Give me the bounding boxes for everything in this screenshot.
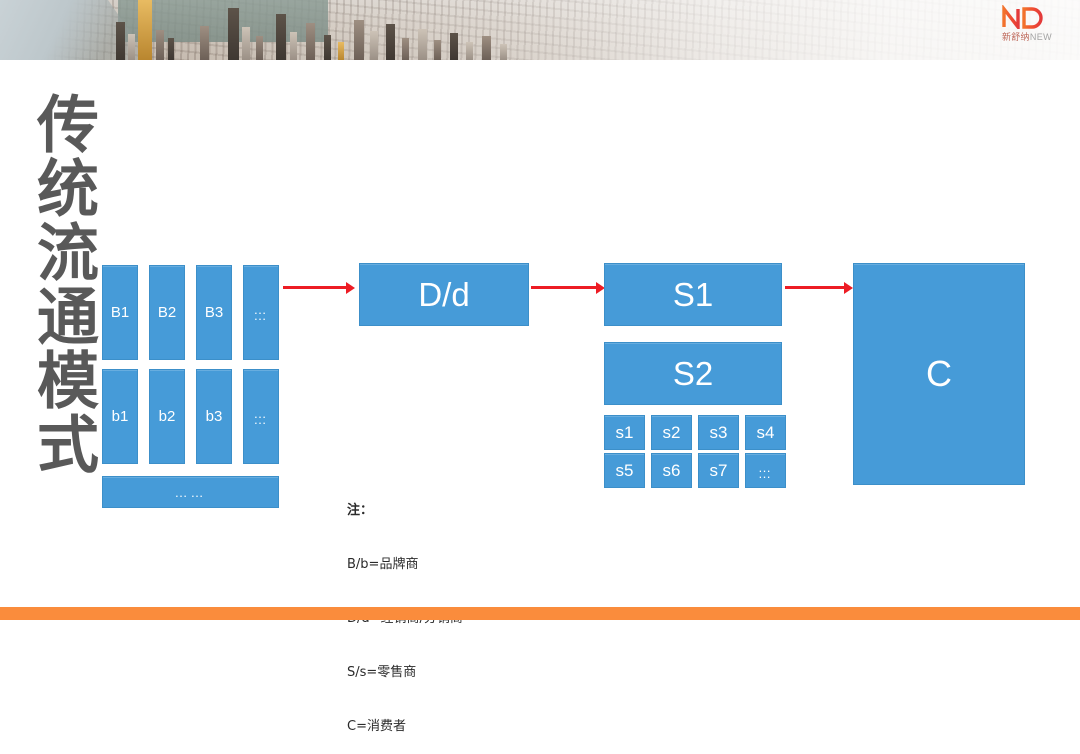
arrow-shaft (283, 286, 346, 289)
node-s1-small[interactable]: s1 (604, 415, 645, 450)
node-s7-small[interactable]: s7 (698, 453, 739, 488)
arrow-shaft (785, 286, 844, 289)
node-s2[interactable]: S2 (604, 342, 782, 405)
arrow-head (346, 282, 355, 294)
ellipsis-lower: … (254, 313, 269, 319)
node-b3-lower[interactable]: b3 (196, 369, 232, 464)
nd-monogram-icon (988, 5, 1064, 29)
node-b1-lower[interactable]: b1 (102, 369, 138, 464)
node-b2-lower[interactable]: b2 (149, 369, 185, 464)
arrow-head (844, 282, 853, 294)
node-s6-small[interactable]: s6 (651, 453, 692, 488)
arrow-shaft (531, 286, 596, 289)
node-dd[interactable]: D/d (359, 263, 529, 326)
arrow-brands-to-distributor (283, 282, 355, 294)
node-b-lower-more[interactable]: … … (243, 369, 279, 464)
node-s4-small[interactable]: s4 (745, 415, 786, 450)
logo-subtitle: 新舒纳NEW (988, 30, 1066, 43)
skyline-towers (110, 0, 610, 60)
node-c[interactable]: C (853, 263, 1025, 485)
legend-line-brand: B/b=品牌商 (347, 556, 463, 574)
node-s3-small[interactable]: s3 (698, 415, 739, 450)
logo-cn-name: 新舒纳 (1002, 32, 1030, 42)
page-title: 传统流通模式 (22, 92, 94, 476)
legend-title: 注： (347, 502, 463, 520)
node-b2[interactable]: B2 (149, 265, 185, 360)
node-s2-small[interactable]: s2 (651, 415, 692, 450)
node-b-more[interactable]: … … (243, 265, 279, 360)
arrow-distributor-to-retailer (531, 282, 605, 294)
header-banner: 新舒纳NEW (0, 0, 1080, 60)
arrow-retailer-to-consumer (785, 282, 853, 294)
bottom-accent-bar (0, 607, 1080, 620)
node-s-more[interactable]: … … (745, 453, 786, 488)
logo-en-name: NEW (1030, 32, 1052, 42)
node-b1[interactable]: B1 (102, 265, 138, 360)
brand-logo: 新舒纳NEW (988, 5, 1066, 49)
node-s1[interactable]: S1 (604, 263, 782, 326)
legend-line-consumer: C=消费者 (347, 718, 463, 736)
legend-line-retailer: S/s=零售商 (347, 664, 463, 682)
node-s5-small[interactable]: s5 (604, 453, 645, 488)
ellipsis-lower: … (254, 417, 269, 423)
node-b3[interactable]: B3 (196, 265, 232, 360)
node-brand-more-bar[interactable]: …… (102, 476, 279, 508)
ellipsis-lower: … (758, 471, 773, 477)
